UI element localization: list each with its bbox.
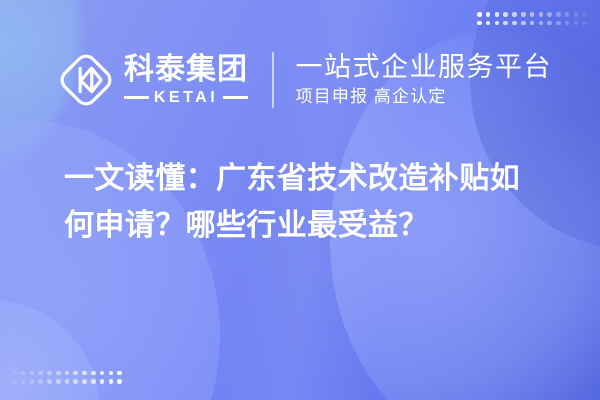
dot bbox=[530, 12, 535, 17]
dot bbox=[512, 21, 517, 26]
dot bbox=[65, 371, 70, 376]
dot bbox=[117, 371, 122, 376]
dot bbox=[21, 379, 26, 384]
dot bbox=[521, 21, 526, 26]
dot bbox=[109, 371, 114, 376]
dot-grid-row bbox=[12, 379, 122, 384]
dot bbox=[582, 21, 587, 26]
dot bbox=[12, 379, 17, 384]
article-title: 一文读懂：广东省技术改造补贴如何申请？哪些行业最受益？ bbox=[64, 156, 544, 250]
dot bbox=[109, 379, 114, 384]
dot bbox=[82, 371, 87, 376]
dot bbox=[530, 21, 535, 26]
dot-grid-bottom-left bbox=[12, 371, 122, 384]
dot bbox=[91, 371, 96, 376]
dot bbox=[100, 379, 105, 384]
dot bbox=[565, 12, 570, 17]
slogan-primary: 一站式企业服务平台 bbox=[296, 52, 553, 82]
dot bbox=[56, 371, 61, 376]
decorative-blob-lower-left bbox=[0, 300, 100, 400]
dot bbox=[495, 12, 500, 17]
dot bbox=[47, 379, 52, 384]
slogan-secondary: 项目申报 高企认定 bbox=[296, 86, 553, 107]
dot bbox=[56, 379, 61, 384]
kd-diamond-logo-icon bbox=[57, 51, 115, 109]
dot bbox=[503, 12, 508, 17]
dot bbox=[495, 21, 500, 26]
dot bbox=[82, 379, 87, 384]
dot bbox=[91, 379, 96, 384]
dot bbox=[477, 21, 482, 26]
dot bbox=[65, 379, 70, 384]
slogan-block: 一站式企业服务平台 项目申报 高企认定 bbox=[296, 52, 553, 107]
dot bbox=[47, 371, 52, 376]
dot bbox=[73, 379, 78, 384]
dot bbox=[539, 12, 544, 17]
wordmark-rule-left bbox=[124, 96, 149, 99]
dot-grid-row bbox=[477, 12, 587, 17]
dot-grid-row bbox=[12, 371, 122, 376]
dot bbox=[21, 371, 26, 376]
dot bbox=[521, 12, 526, 17]
dot bbox=[38, 379, 43, 384]
brand-logo-wordmark: 科泰集团 KETAI bbox=[124, 55, 248, 106]
brand-logo[interactable]: 科泰集团 KETAI bbox=[57, 51, 248, 109]
header-vertical-divider bbox=[272, 52, 274, 108]
dot bbox=[582, 12, 587, 17]
dot bbox=[486, 21, 491, 26]
dot bbox=[556, 21, 561, 26]
brand-name-en: KETAI bbox=[149, 90, 223, 106]
dot bbox=[73, 371, 78, 376]
dot bbox=[117, 379, 122, 384]
brand-name-en-row: KETAI bbox=[124, 90, 248, 106]
dot bbox=[547, 21, 552, 26]
dot bbox=[38, 371, 43, 376]
dot bbox=[100, 371, 105, 376]
dot bbox=[12, 371, 17, 376]
dot bbox=[30, 371, 35, 376]
dot-grid-top-right bbox=[477, 12, 587, 25]
dot bbox=[574, 12, 579, 17]
dot bbox=[547, 12, 552, 17]
dot bbox=[539, 21, 544, 26]
wordmark-rule-right bbox=[223, 96, 248, 99]
dot bbox=[565, 21, 570, 26]
dot bbox=[574, 21, 579, 26]
dot bbox=[477, 12, 482, 17]
dot bbox=[556, 12, 561, 17]
dot bbox=[503, 21, 508, 26]
brand-name-cn: 科泰集团 bbox=[124, 55, 248, 85]
banner-header: 科泰集团 KETAI 一站式企业服务平台 项目申报 高企认定 bbox=[0, 44, 600, 116]
promo-banner: 科泰集团 KETAI 一站式企业服务平台 项目申报 高企认定 一文读懂：广东省技… bbox=[0, 0, 600, 400]
dot bbox=[512, 12, 517, 17]
dot-grid-row bbox=[477, 21, 587, 26]
dot bbox=[30, 379, 35, 384]
dot bbox=[486, 12, 491, 17]
